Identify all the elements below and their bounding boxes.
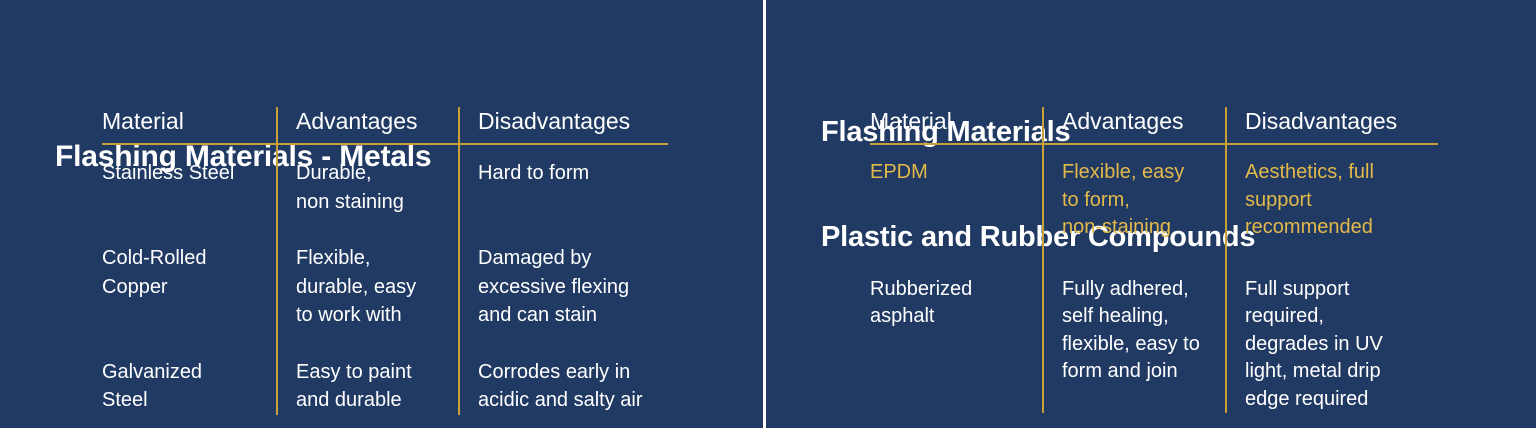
cell-disadvantages: Hard to form bbox=[459, 144, 668, 216]
slide-plastic-rubber: Flashing Materials Plastic and Rubber Co… bbox=[766, 0, 1536, 428]
cell-disadvantages: Aesthetics, full support recommended bbox=[1226, 144, 1438, 242]
cell-text: Fully adhered, self healing, flexible, e… bbox=[1062, 276, 1225, 386]
cell-advantages: Fully adhered, self healing, flexible, e… bbox=[1043, 242, 1226, 414]
column-header-material: Material bbox=[870, 107, 1043, 144]
cell-material: Rubberized asphalt bbox=[870, 242, 1043, 414]
column-header-advantages: Advantages bbox=[1043, 107, 1226, 144]
slide-deck: Flashing Materials - Metals Material Adv… bbox=[0, 0, 1536, 428]
slide-metals: Flashing Materials - Metals Material Adv… bbox=[0, 0, 763, 428]
cell-text: Durable, non staining bbox=[296, 159, 458, 216]
cell-material: Stainless Steel bbox=[102, 144, 277, 216]
cell-text: Corrodes early in acidic and salty air bbox=[478, 358, 668, 415]
cell-material: Cold-Rolled Copper bbox=[102, 216, 277, 330]
cell-text: Flexible, durable, easy to work with bbox=[296, 244, 458, 330]
table-row: Stainless Steel Durable, non staining Ha… bbox=[102, 144, 668, 216]
table-row: Rubberized asphalt Fully adhered, self h… bbox=[870, 242, 1438, 414]
cell-text: Galvanized Steel bbox=[102, 358, 270, 415]
cell-text: EPDM bbox=[870, 159, 1036, 187]
table-header-row: Material Advantages Disadvantages bbox=[870, 107, 1438, 144]
table-header-row: Material Advantages Disadvantages bbox=[102, 107, 668, 144]
column-header-disadvantages: Disadvantages bbox=[459, 107, 668, 144]
materials-table-plastic-rubber: Material Advantages Disadvantages EPDM F… bbox=[870, 107, 1438, 413]
cell-text: Flexible, easy to form, non-staining bbox=[1062, 159, 1225, 242]
column-header-material: Material bbox=[102, 107, 277, 144]
cell-text: Rubberized asphalt bbox=[870, 276, 1036, 331]
cell-text: Easy to paint and durable bbox=[296, 358, 458, 415]
cell-disadvantages: Corrodes early in acidic and salty air bbox=[459, 330, 668, 415]
table-row: EPDM Flexible, easy to form, non-stainin… bbox=[870, 144, 1438, 242]
cell-text: Damaged by excessive flexing and can sta… bbox=[478, 244, 668, 330]
cell-text: Cold-Rolled Copper bbox=[102, 244, 270, 301]
cell-text: Hard to form bbox=[478, 159, 668, 188]
cell-text: Full support required, degrades in UV li… bbox=[1245, 276, 1438, 414]
column-header-advantages: Advantages bbox=[277, 107, 459, 144]
table-row: Cold-Rolled Copper Flexible, durable, ea… bbox=[102, 216, 668, 330]
column-header-disadvantages: Disadvantages bbox=[1226, 107, 1438, 144]
cell-text: Stainless Steel bbox=[102, 159, 270, 188]
cell-disadvantages: Full support required, degrades in UV li… bbox=[1226, 242, 1438, 414]
table-row: Galvanized Steel Easy to paint and durab… bbox=[102, 330, 668, 415]
cell-text: Aesthetics, full support recommended bbox=[1245, 159, 1438, 242]
cell-material: Galvanized Steel bbox=[102, 330, 277, 415]
cell-advantages: Flexible, durable, easy to work with bbox=[277, 216, 459, 330]
cell-disadvantages: Damaged by excessive flexing and can sta… bbox=[459, 216, 668, 330]
cell-advantages: Durable, non staining bbox=[277, 144, 459, 216]
cell-material: EPDM bbox=[870, 144, 1043, 242]
cell-advantages: Easy to paint and durable bbox=[277, 330, 459, 415]
materials-table-metals: Material Advantages Disadvantages Stainl… bbox=[102, 107, 668, 415]
cell-advantages: Flexible, easy to form, non-staining bbox=[1043, 144, 1226, 242]
